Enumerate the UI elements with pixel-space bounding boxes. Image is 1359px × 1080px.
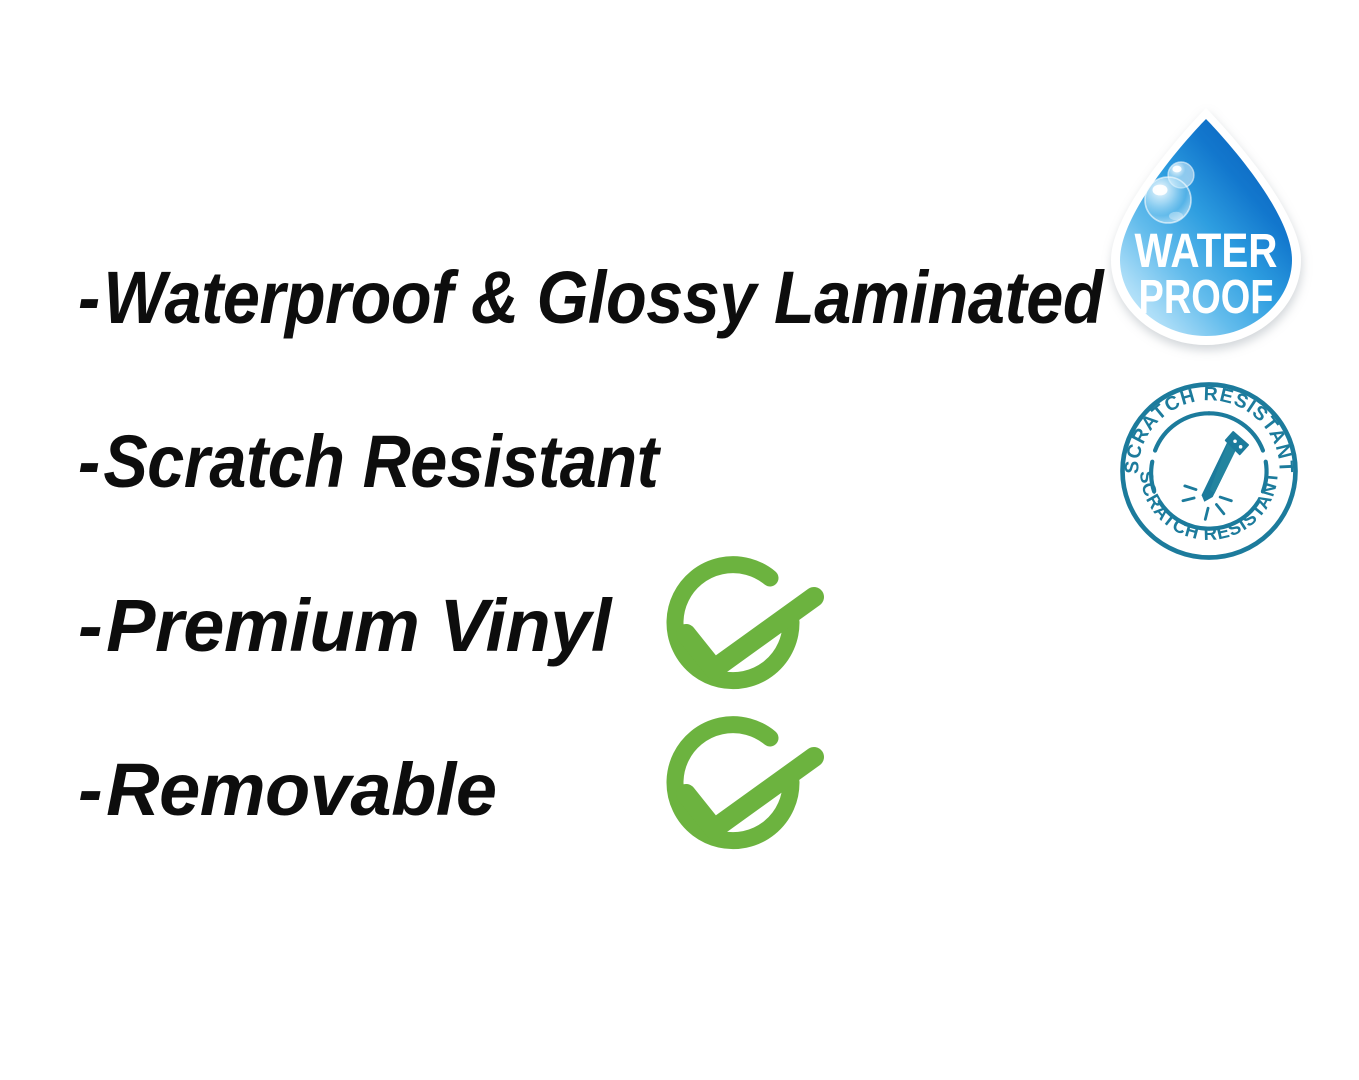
feature-item-premium-vinyl: -Premium Vinyl [78, 586, 611, 666]
water-bubble-large-icon [1145, 177, 1191, 223]
feature-highlight-graphic: -Waterproof & Glossy Laminated -Scratch … [0, 0, 1359, 1080]
scratch-resistant-label-top: SCRATCH RESISTANT [1121, 383, 1297, 474]
bullet-dash: - [78, 586, 102, 666]
feature-item-label: Waterproof & Glossy Laminated [103, 256, 1103, 339]
circle-check-icon [675, 725, 814, 841]
knife-icon [1183, 432, 1248, 519]
checkmark-premium-vinyl [644, 556, 834, 716]
feature-item-waterproof: -Waterproof & Glossy Laminated [78, 258, 1103, 338]
checkmark-removable [644, 716, 834, 876]
feature-item-scratch-resistant: -Scratch Resistant [78, 422, 658, 502]
bullet-dash: - [78, 750, 102, 830]
feature-list: -Waterproof & Glossy Laminated -Scratch … [0, 0, 1100, 1080]
feature-item-label: Premium Vinyl [106, 584, 611, 667]
feature-item-removable: -Removable [78, 750, 496, 830]
scratch-resistant-badge: SCRATCH RESISTANT SCRATCH RESISTANT [1110, 378, 1308, 564]
waterproof-label-line2: PROOF [1139, 271, 1274, 324]
bullet-dash: - [78, 258, 100, 338]
circle-check-icon [675, 565, 814, 681]
feature-item-label: Scratch Resistant [103, 420, 658, 503]
bullet-dash: - [78, 422, 100, 502]
waterproof-badge: WATER PROOF [1098, 100, 1314, 362]
feature-item-label: Removable [106, 748, 496, 831]
